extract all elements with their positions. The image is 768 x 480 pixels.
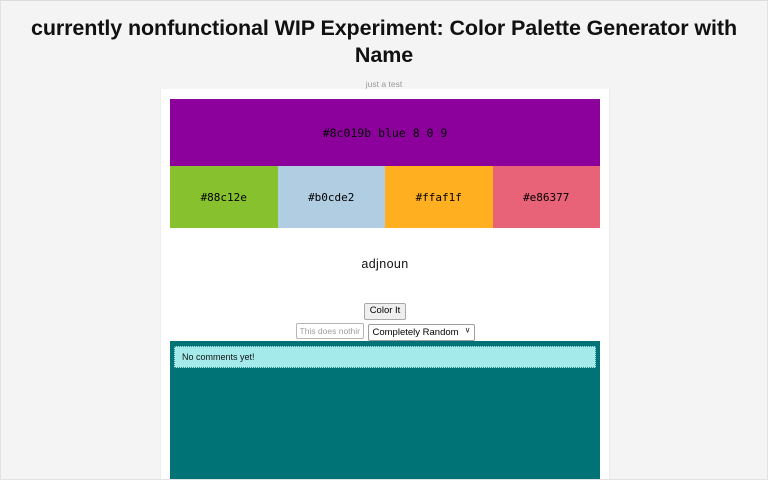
comments-section: No comments yet! <box>170 341 600 479</box>
page-header: currently nonfunctional WIP Experiment: … <box>1 1 767 103</box>
controls-group: Color It Completely Random ∨ <box>161 300 609 341</box>
content-panel: #8c019b blue 8 0 9 #88c12e #b0cde2 #ffaf… <box>160 89 610 479</box>
color-swatch[interactable]: #ffaf1f <box>385 166 493 228</box>
color-it-button[interactable]: Color It <box>364 303 407 320</box>
name-input[interactable] <box>296 323 364 339</box>
input-row: Completely Random ∨ <box>161 322 609 341</box>
page-title: currently nonfunctional WIP Experiment: … <box>1 15 767 69</box>
generated-name-label: adjnoun <box>161 257 609 271</box>
primary-color-swatch[interactable]: #8c019b blue 8 0 9 <box>170 99 600 166</box>
color-swatch[interactable]: #b0cde2 <box>278 166 386 228</box>
color-swatch[interactable]: #88c12e <box>170 166 278 228</box>
button-row: Color It <box>161 300 609 320</box>
browser-viewport: currently nonfunctional WIP Experiment: … <box>0 0 768 480</box>
comments-empty-message: No comments yet! <box>174 346 596 368</box>
color-palette: #8c019b blue 8 0 9 #88c12e #b0cde2 #ffaf… <box>170 99 600 228</box>
mode-select-wrapper: Completely Random ∨ <box>368 322 475 341</box>
color-swatch[interactable]: #e86377 <box>493 166 601 228</box>
mode-select[interactable]: Completely Random <box>368 324 475 341</box>
secondary-swatch-row: #88c12e #b0cde2 #ffaf1f #e86377 <box>170 166 600 228</box>
